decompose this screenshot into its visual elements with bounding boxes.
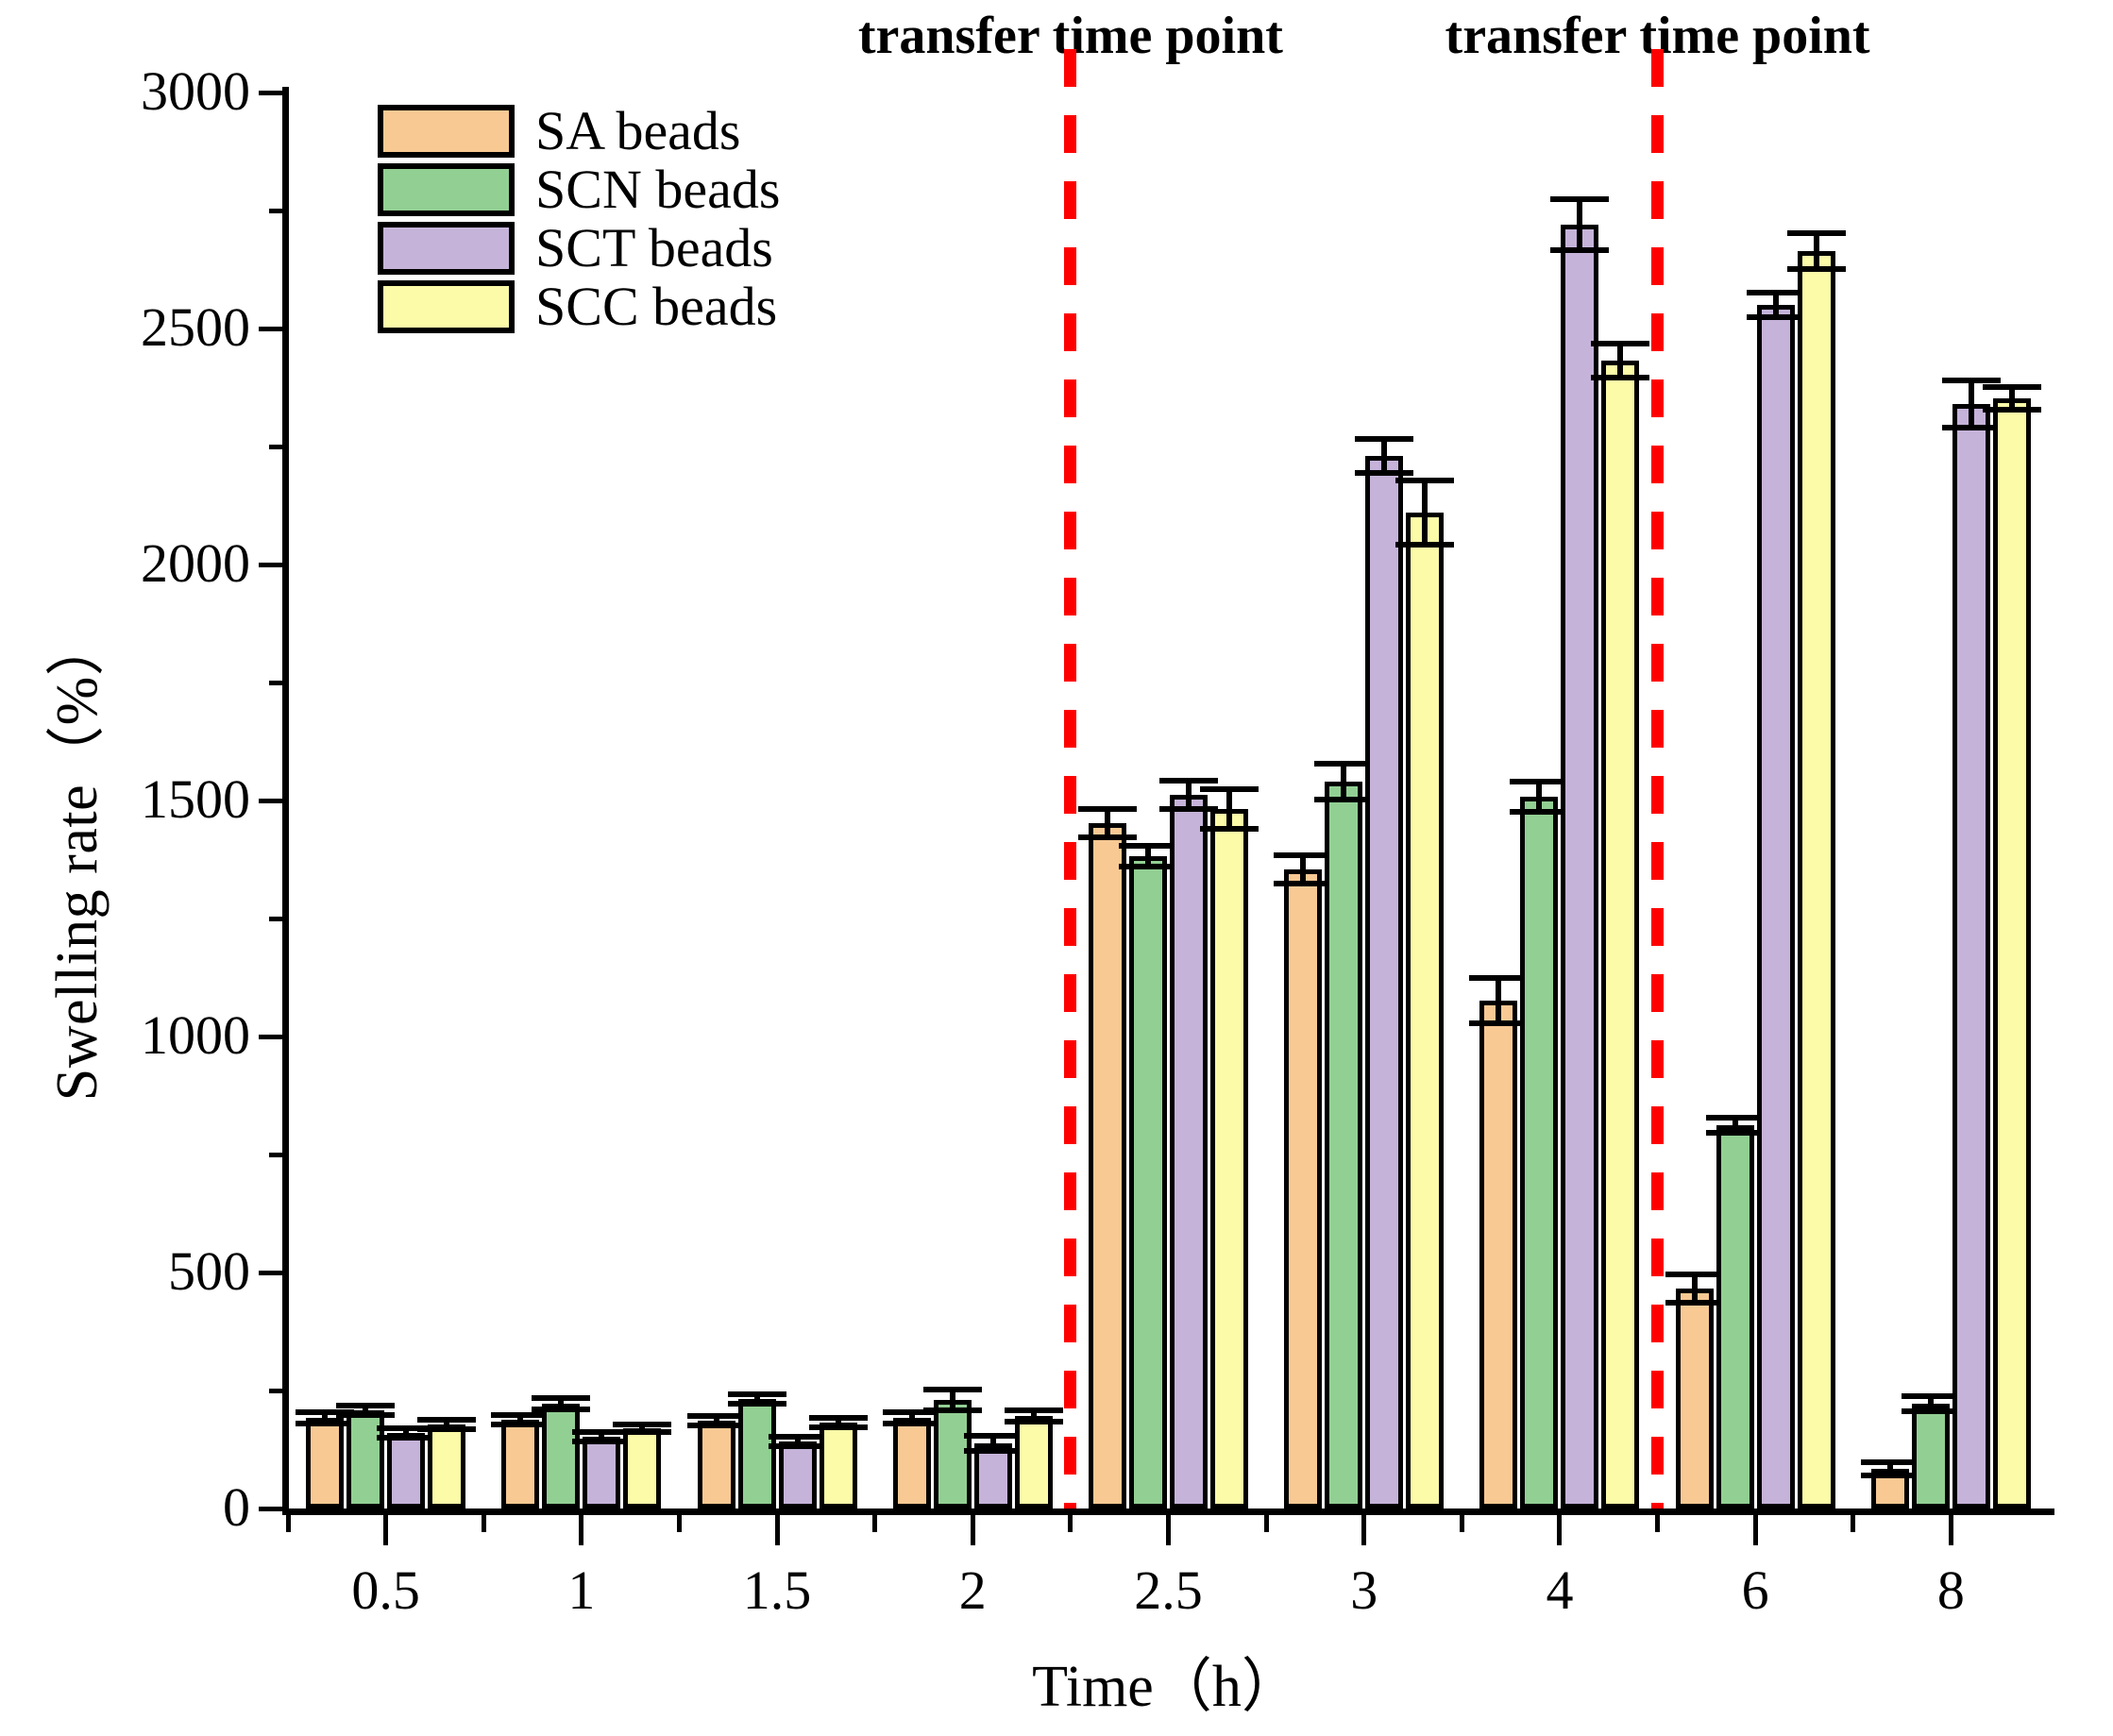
x-axis-minor-tick [482,1515,486,1532]
error-bar-cap-lower [1983,407,2041,413]
legend-item-sa[interactable]: SA beads [378,102,780,160]
error-bar-cap-upper [1119,843,1177,849]
error-bar-cap-lower [1355,470,1413,476]
bar-sct-4 [1561,225,1598,1508]
bar-scn-6 [1716,1125,1754,1508]
bar-scc-3 [1406,513,1444,1508]
legend-swatch-sct [378,222,515,275]
bar-sa-3 [1284,869,1322,1509]
bar-sct-6 [1757,305,1795,1508]
x-axis-tick [579,1515,583,1545]
bar-scc-1.5 [820,1423,857,1509]
error-bar-cap-lower [1591,375,1649,380]
legend-label: SA beads [535,104,741,159]
error-bar-cap-lower [532,1407,590,1412]
error-bar-stem [1226,789,1232,829]
bar-scc-4 [1601,361,1639,1508]
x-axis-tick [383,1515,388,1545]
bar-scc-2 [1015,1416,1053,1508]
bar-scn-4 [1520,797,1558,1508]
x-axis-tick-label: 2.5 [1056,1563,1282,1618]
x-axis-tick-label: 4 [1446,1563,1673,1618]
bar-sct-1.5 [779,1441,817,1509]
bar-sct-8 [1952,404,1990,1508]
error-bar-cap-lower [1706,1130,1765,1136]
x-axis-minor-tick [872,1515,877,1532]
error-bar-cap-lower [883,1421,941,1426]
error-bar-cap-upper [1510,779,1568,784]
y-axis-line [282,87,289,1514]
y-axis-tick-label: 2500 [0,300,250,355]
error-bar-stem [1536,782,1542,812]
bar-sa-0.5 [306,1418,344,1509]
error-bar-cap-upper [923,1387,982,1392]
error-bar-cap-upper [1787,230,1846,236]
error-bar-cap-upper [1078,806,1137,812]
y-axis-minor-tick [269,917,282,921]
error-bar-cap-upper [1005,1407,1063,1413]
error-bar-cap-upper [1159,778,1218,784]
error-bar-cap-lower [1159,806,1218,812]
x-axis-tick [1557,1515,1562,1545]
legend-label: SCT beads [535,221,773,276]
x-axis-minor-tick [286,1515,291,1532]
bar-sct-3 [1365,456,1403,1508]
x-axis-tick-label: 6 [1642,1563,1868,1618]
error-bar-cap-lower [728,1401,786,1407]
error-bar-cap-lower [1469,1020,1528,1026]
x-axis-tick [971,1515,975,1545]
y-axis-tick [259,1271,282,1275]
error-bar-cap-lower [491,1422,549,1427]
error-bar-cap-upper [1983,384,2041,390]
bar-scn-1.5 [738,1399,776,1508]
x-axis-tick [1361,1515,1366,1545]
y-axis-tick-label: 3000 [0,64,250,119]
x-axis-minor-tick [1460,1515,1464,1532]
error-bar-cap-lower [964,1448,1023,1454]
y-axis-tick-label: 1500 [0,772,250,827]
error-bar-cap-lower [1942,425,2001,430]
error-bar-cap-lower [417,1426,476,1432]
error-bar-cap-lower [1902,1408,1960,1414]
error-bar-cap-upper [1942,378,2001,383]
x-axis-minor-tick [1851,1515,1855,1532]
legend-label: SCN beads [535,162,780,217]
y-axis-tick-label: 2000 [0,536,250,591]
y-axis-minor-tick [269,1153,282,1157]
error-bar-cap-upper [1902,1393,1960,1399]
legend-swatch-scc [378,280,515,333]
bar-scn-3 [1325,782,1362,1509]
error-bar-cap-lower [1861,1473,1919,1478]
bar-scn-2 [934,1400,972,1508]
error-bar-cap-lower [336,1412,395,1418]
error-bar-cap-upper [1665,1272,1724,1277]
legend-swatch-sa [378,105,515,158]
y-axis-tick-label: 0 [0,1480,250,1535]
transfer-time-line [1064,49,1076,1508]
error-bar-cap-lower [613,1429,671,1435]
error-bar-cap-upper [532,1395,590,1401]
error-bar-cap-upper [1747,290,1805,295]
error-bar-cap-lower [1510,809,1568,815]
error-bar-stem [1577,199,1582,250]
bar-scc-6 [1798,251,1835,1508]
y-axis-minor-tick [269,209,282,213]
error-bar-cap-upper [769,1434,827,1440]
error-bar-cap-upper [687,1413,746,1419]
error-bar-stem [1969,380,1974,428]
error-bar-cap-upper [1550,196,1609,202]
x-axis-title: Time（h） [283,1638,2049,1723]
error-bar-stem [1617,344,1623,378]
x-axis-tick [1949,1515,1953,1545]
error-bar-cap-lower [1787,266,1846,272]
error-bar-cap-lower [572,1439,631,1444]
x-axis-tick-label: 0.5 [273,1563,499,1618]
x-axis-minor-tick [1068,1515,1073,1532]
error-bar-cap-lower [1314,797,1373,802]
error-bar-stem [1105,809,1110,837]
x-axis-minor-tick [677,1515,682,1532]
y-axis-tick [259,1507,282,1511]
error-bar-stem [1381,439,1387,473]
error-bar-cap-lower [1119,864,1177,869]
y-axis-tick [259,799,282,803]
error-bar-cap-upper [1395,478,1454,483]
x-axis-tick-label: 2 [859,1563,1086,1618]
legend-item-scc[interactable]: SCC beads [378,278,780,336]
error-bar-cap-upper [728,1391,786,1397]
error-bar-cap-lower [1078,834,1137,840]
error-bar-cap-upper [417,1417,476,1423]
error-bar-cap-lower [809,1424,868,1430]
legend-item-sct[interactable]: SCT beads [378,219,780,278]
x-axis-tick-labels: 0.511.522.53468 [288,1563,2049,1648]
x-axis-tick [775,1515,780,1545]
error-bar-cap-upper [1706,1115,1765,1121]
error-bar-stem [1496,978,1501,1023]
error-bar-cap-lower [1395,542,1454,548]
bar-sct-1 [583,1437,620,1508]
y-axis-minor-tick [269,1389,282,1393]
bar-sa-2.5 [1089,823,1126,1508]
x-axis-tick-label: 8 [1837,1563,2064,1618]
error-bar-stem [1422,480,1428,545]
error-bar-cap-upper [1469,975,1528,981]
error-bar-cap-upper [1861,1459,1919,1465]
error-bar-cap-lower [1274,881,1332,886]
y-axis-tick-labels: 050010001500200025003000 [0,93,250,1508]
bar-scc-0.5 [428,1424,465,1508]
error-bar-cap-upper [491,1412,549,1418]
y-axis-tick-label: 500 [0,1244,250,1299]
chart-legend: SA beadsSCN beadsSCT beadsSCC beads [378,102,780,336]
y-axis-tick [259,1035,282,1039]
bar-sct-2.5 [1170,795,1208,1509]
x-axis-tick [1753,1515,1758,1545]
bar-scc-8 [1993,398,2031,1508]
error-bar-cap-lower [377,1435,435,1441]
error-bar-cap-upper [1200,786,1259,792]
error-bar-stem [1300,855,1306,884]
error-bar-cap-upper [964,1433,1023,1439]
x-axis-minor-tick [1655,1515,1660,1532]
legend-label: SCC beads [535,279,777,334]
error-bar-cap-lower [1005,1419,1063,1424]
legend-swatch-scn [378,163,515,216]
error-bar-stem [1341,764,1346,800]
x-axis-minor-tick [1264,1515,1269,1532]
error-bar-cap-lower [1550,247,1609,253]
y-axis-tick [259,327,282,331]
error-bar-cap-upper [1591,341,1649,346]
y-axis-minor-tick [269,681,282,685]
error-bar-stem [1692,1274,1698,1303]
bar-sa-1.5 [698,1421,735,1508]
x-axis-tick-label: 1.5 [664,1563,890,1618]
error-bar-stem [1186,781,1192,809]
y-axis-tick-label: 1000 [0,1008,250,1063]
x-axis-tick-label: 3 [1251,1563,1478,1618]
x-axis-line [282,1508,2054,1515]
chart-figure: Swelling rate（%） Time（h） 050010001500200… [0,0,2113,1736]
bar-scc-1 [623,1428,661,1508]
x-axis-tick [1166,1515,1171,1545]
bar-sa-1 [501,1420,539,1508]
error-bar-cap-lower [1747,314,1805,320]
x-axis-tick-label: 1 [468,1563,695,1618]
bar-sct-0.5 [387,1433,425,1508]
bar-scn-1 [542,1404,580,1509]
y-axis-tick [259,563,282,567]
error-bar-cap-upper [1274,852,1332,858]
error-bar-cap-lower [1665,1300,1724,1306]
y-axis-tick [259,91,282,95]
error-bar-cap-upper [613,1422,671,1427]
error-bar-cap-lower [296,1421,354,1426]
error-bar-cap-lower [923,1407,982,1413]
y-axis-minor-tick [269,445,282,449]
error-bar-cap-lower [1200,826,1259,832]
error-bar-stem [1814,233,1819,269]
error-bar-cap-upper [1314,761,1373,767]
error-bar-cap-upper [336,1403,395,1408]
error-bar-cap-upper [809,1415,868,1421]
error-bar-cap-lower [769,1443,827,1449]
legend-item-scn[interactable]: SCN beads [378,160,780,219]
error-bar-cap-lower [687,1423,746,1428]
bar-scc-2.5 [1210,809,1248,1509]
bar-scn-2.5 [1129,856,1167,1508]
transfer-time-line [1651,49,1664,1508]
bar-scn-8 [1912,1404,1950,1508]
bar-sa-6 [1676,1289,1714,1508]
bar-sa-2 [893,1418,931,1509]
error-bar-cap-upper [1355,436,1413,442]
bar-sa-4 [1479,1001,1517,1509]
